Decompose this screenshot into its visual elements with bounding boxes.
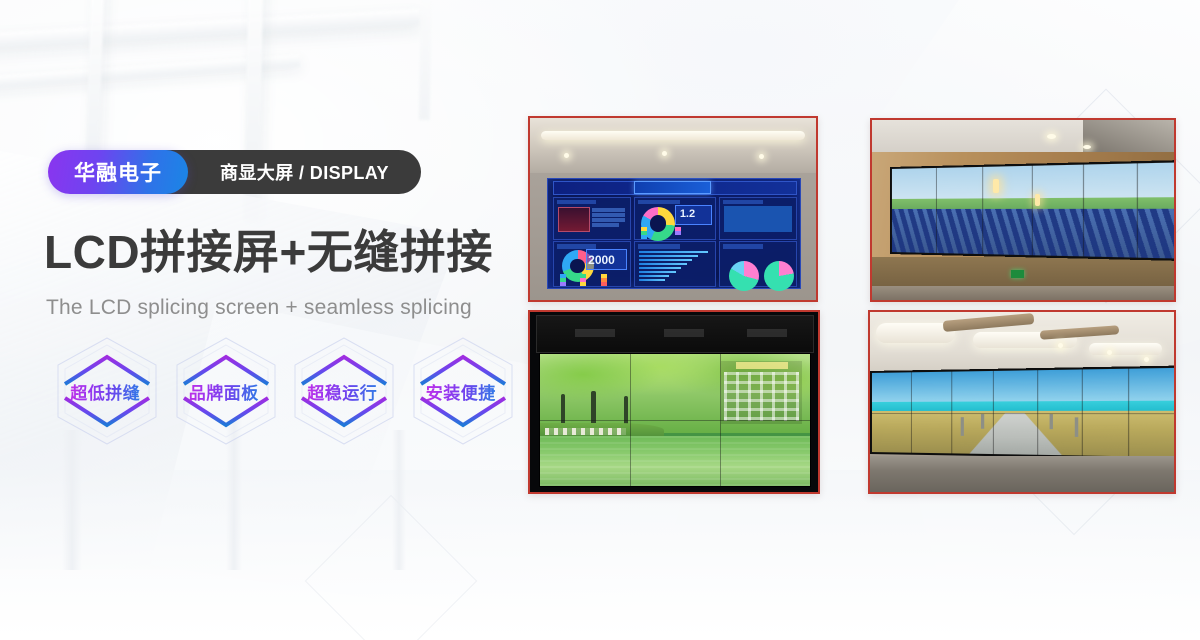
page-subtitle: The LCD splicing screen + seamless splic… — [46, 296, 472, 320]
dashboard-panel: 2000 — [553, 241, 631, 287]
feature-hexagon-1: 超低拼缝 — [48, 332, 163, 450]
feature-hexagon-4: 安装便捷 — [404, 332, 519, 450]
ceiling-spotlight — [662, 151, 667, 156]
dashboard-title-block — [634, 181, 712, 194]
dashboard-panel — [719, 241, 797, 287]
calendar-grid — [724, 372, 799, 421]
dashboard-panel — [719, 197, 797, 240]
copy-column: 商显大屏 / DISPLAY 华融电子 LCD拼接屏+无缝拼接 The LCD … — [0, 0, 520, 640]
ceiling-cove-light — [1089, 343, 1162, 356]
photo-control-room-dashboard: 1.2 2000 — [528, 116, 818, 302]
bezel-marking — [664, 329, 704, 337]
screen-calendar-overlay — [721, 361, 802, 424]
pie-chart — [729, 261, 759, 291]
screen-railing — [545, 428, 626, 435]
screen-water-reflection — [540, 436, 811, 486]
stat-value: 1.2 — [680, 208, 695, 220]
stat-value: 2000 — [588, 253, 615, 267]
panel-header — [557, 200, 596, 205]
screen-lake — [540, 436, 811, 486]
ceiling-spotlight — [564, 153, 569, 158]
page-title: LCD拼接屏+无缝拼接 — [44, 228, 493, 278]
dashboard-screen: 1.2 2000 — [547, 178, 801, 289]
ceiling-cove-light — [541, 131, 804, 140]
floor — [870, 456, 1174, 492]
panel-header — [723, 200, 762, 205]
exit-sign — [1011, 270, 1024, 278]
feature-list: 超低拼缝 品牌面板 超稳运行 — [48, 332, 518, 450]
calendar-title — [736, 362, 788, 369]
feature-label: 安装便捷 — [426, 379, 496, 404]
product-banner: 商显大屏 / DISPLAY 华融电子 LCD拼接屏+无缝拼接 The LCD … — [0, 0, 1200, 640]
flow-diagram — [724, 206, 792, 233]
photo-solar-farm-video-wall — [870, 118, 1176, 302]
panel-header — [638, 200, 680, 205]
feature-label: 超稳运行 — [307, 379, 377, 404]
upper-dark-bezel — [536, 315, 814, 353]
floor — [872, 286, 1174, 300]
photo-scene — [872, 120, 1174, 300]
photo-scene — [870, 312, 1174, 492]
feature-label: 超低拼缝 — [70, 379, 140, 404]
lcd-video-wall — [890, 159, 1176, 260]
panel-header — [723, 244, 762, 249]
panel-header — [638, 244, 680, 249]
brand-pill: 华融电子 — [48, 150, 188, 194]
pie-chart — [764, 261, 794, 291]
screen-solar-panels — [892, 208, 1176, 258]
photo-gallery: 1.2 2000 — [528, 116, 1176, 494]
photo-willow-lake-video-wall — [528, 310, 820, 494]
photo-scene: 1.2 2000 — [530, 118, 816, 300]
photo-beach-boardwalk-video-wall — [868, 310, 1176, 494]
ceiling — [530, 118, 816, 173]
bezel-marking — [575, 329, 615, 337]
dashboard-panel — [553, 197, 631, 240]
dashboard-panel: 1.2 — [634, 197, 717, 240]
lcd-video-wall — [870, 366, 1176, 460]
screen-sky — [892, 162, 1176, 202]
category-label: 商显大屏 / DISPLAY — [220, 159, 389, 185]
lcd-video-wall — [539, 353, 812, 486]
photo-scene — [530, 312, 818, 492]
brand-name: 华融电子 — [74, 157, 162, 187]
feature-hexagon-2: 品牌面板 — [167, 332, 282, 450]
feature-label: 品牌面板 — [189, 379, 259, 404]
dashboard-panel — [634, 241, 717, 287]
feature-hexagon-3: 超稳运行 — [285, 332, 400, 450]
bezel-marking — [747, 329, 787, 337]
